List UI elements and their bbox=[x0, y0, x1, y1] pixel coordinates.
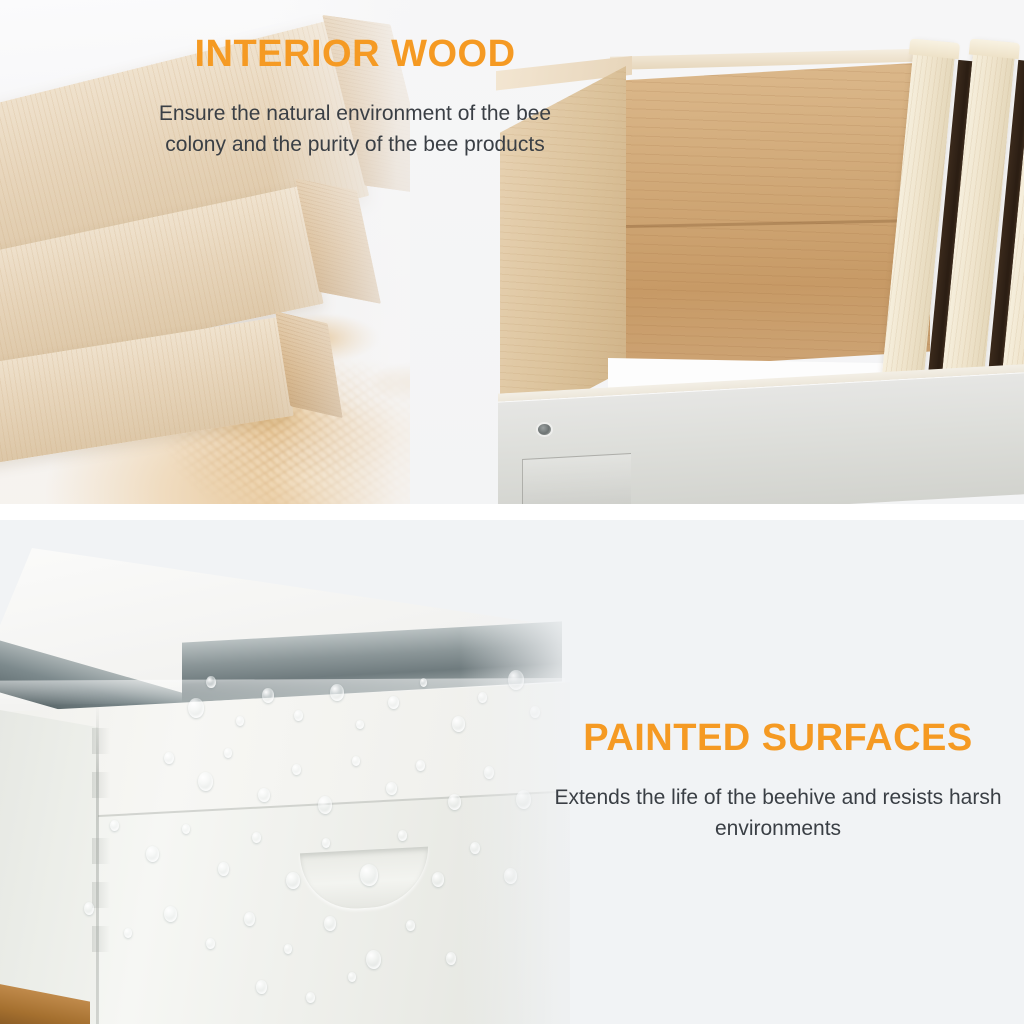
interior-wood-headline: INTERIOR WOOD bbox=[130, 34, 580, 76]
interior-wood-subcopy: Ensure the natural environment of the be… bbox=[130, 98, 580, 161]
painted-surfaces-subcopy: Extends the life of the beehive and resi… bbox=[548, 782, 1008, 845]
painted-surfaces-copy-block: PAINTED SURFACES Extends the life of the… bbox=[548, 718, 1008, 845]
hive-box-cleat bbox=[522, 453, 631, 504]
feature-panels-page: INTERIOR WOOD Ensure the natural environ… bbox=[0, 0, 1024, 1024]
panel-separator bbox=[0, 504, 1024, 520]
section-interior-wood: INTERIOR WOOD Ensure the natural environ… bbox=[0, 0, 1024, 504]
hive-box-screw bbox=[538, 424, 551, 435]
painted-beehive-water-beading-photo bbox=[0, 520, 640, 1024]
box-joint-finger bbox=[92, 882, 110, 908]
box-joint-finger bbox=[92, 728, 110, 754]
box-joint-finger bbox=[92, 772, 110, 798]
painted-surfaces-headline: PAINTED SURFACES bbox=[548, 718, 1008, 760]
hive-box-left-side bbox=[0, 705, 98, 1024]
box-joint-finger bbox=[92, 838, 110, 864]
box-joint-finger bbox=[92, 926, 110, 952]
hive-interior-rear-wall bbox=[620, 62, 930, 370]
interior-wood-copy-block: INTERIOR WOOD Ensure the natural environ… bbox=[130, 34, 580, 161]
